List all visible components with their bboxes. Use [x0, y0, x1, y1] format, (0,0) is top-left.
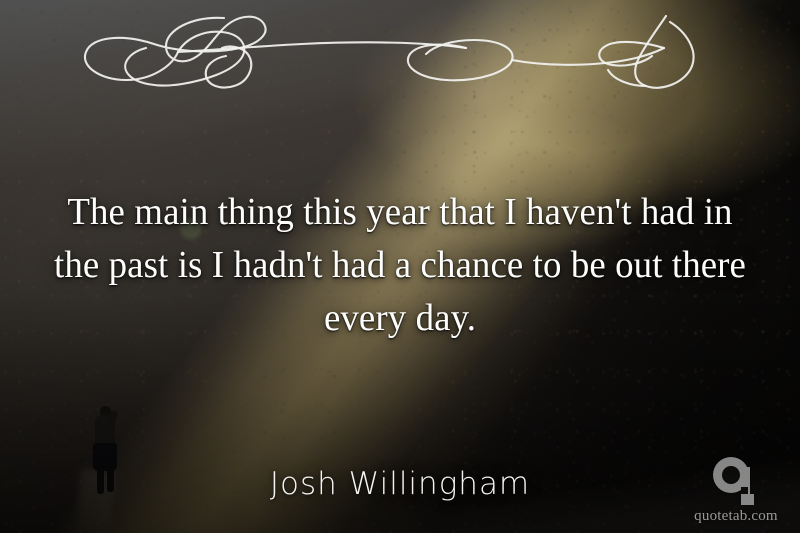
logo-notch — [741, 487, 748, 494]
quote-author-name: Josh Willingham — [0, 466, 800, 502]
quotetab-q-logo-icon — [713, 457, 759, 505]
flourish-ornament-icon — [74, 4, 734, 96]
logo-counter — [722, 466, 740, 484]
quote-text: The main thing this year that I haven't … — [51, 186, 749, 345]
brand-name-label: quotetab.com — [684, 508, 788, 525]
quote-image-card: The main thing this year that I haven't … — [0, 0, 800, 533]
logo-tail — [741, 494, 754, 505]
brand-watermark[interactable]: quotetab.com — [684, 457, 788, 525]
